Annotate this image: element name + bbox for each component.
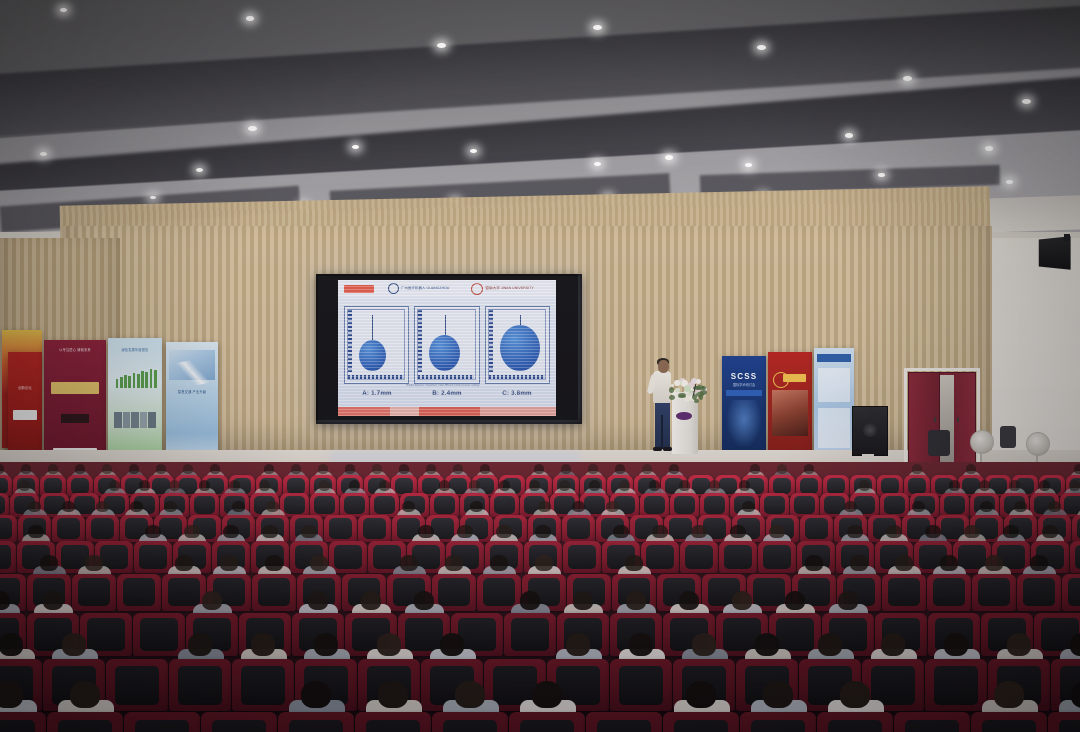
seat-cushion (905, 720, 960, 732)
attendee-head (850, 555, 868, 571)
auditorium-seat[interactable] (358, 515, 391, 543)
auditorium-seat[interactable] (1062, 574, 1080, 611)
seat-cushion (933, 578, 965, 606)
banner-photo-1 (114, 412, 121, 428)
seat-cushion (135, 720, 190, 732)
attendee-head (28, 501, 41, 513)
auditorium-seat[interactable] (700, 493, 729, 517)
auditorium-seat[interactable] (927, 574, 971, 611)
attendee-head (1069, 480, 1080, 491)
seat-cushion (1077, 518, 1080, 539)
attendee-head (679, 480, 691, 491)
attendee-head (912, 464, 922, 473)
banner-bar-7 (141, 371, 144, 388)
attendee-head (377, 633, 402, 656)
auditorium-seat[interactable] (232, 659, 294, 711)
auditorium-seat[interactable] (324, 515, 357, 543)
attendee-head (949, 480, 961, 491)
seat-cushion (168, 578, 200, 606)
attendee-head (1009, 480, 1021, 491)
logo-left: 广州医疗机器人 GUANGZHOU (388, 283, 449, 294)
banner-bar-1 (116, 379, 119, 388)
ceiling-light-8 (845, 133, 853, 138)
attendee-head (859, 480, 871, 491)
seat-cushion (753, 578, 785, 606)
droplet-shape (359, 340, 386, 371)
attendee-head (62, 501, 75, 513)
seat-cushion (674, 720, 729, 732)
attendee-head (573, 591, 594, 610)
attendee-head (418, 525, 433, 539)
attendee-head (652, 525, 667, 539)
panel-axis-vertical (418, 310, 422, 372)
banner-blue-rail[interactable]: 智慧交通 产业升级 (166, 342, 218, 464)
attendee-head (755, 633, 780, 656)
ceiling-light-19 (1006, 180, 1013, 184)
auditorium-seat[interactable] (610, 659, 672, 711)
seat-cushion (91, 518, 115, 539)
seat-cushion (284, 496, 305, 515)
auditorium-seat[interactable] (680, 541, 718, 573)
logo-ring-icon (388, 283, 399, 294)
attendee-head (188, 633, 213, 656)
attendee-head (925, 525, 940, 539)
ceiling-light-6 (1022, 99, 1031, 104)
attendee-head (139, 480, 151, 491)
attendee-head (480, 464, 490, 473)
seat-cushion (0, 496, 5, 515)
seat-cushion (704, 496, 725, 515)
attendee-head (301, 681, 331, 708)
auditorium-seat[interactable] (0, 515, 17, 543)
slide-content: 广州医疗机器人 GUANGZHOU 暨南大学 JINAN UNIVERSITY … (338, 280, 556, 416)
seat-cushion (344, 496, 365, 515)
seat-cushion (908, 478, 927, 494)
seat-cushion (483, 578, 515, 606)
attendee-head (129, 464, 139, 473)
auditorium-seat[interactable] (134, 541, 172, 573)
attendee-head (229, 480, 241, 491)
slide-caption-note: Droplet diameter comparison under differ… (352, 384, 534, 389)
ceiling-light-17 (745, 163, 752, 167)
attendee-head (818, 633, 843, 656)
banner-bar-9 (150, 369, 153, 388)
attendee-head (529, 480, 541, 491)
attendee-head (805, 555, 823, 571)
auditorium-seat[interactable] (509, 712, 585, 732)
diagram-panel-B (414, 306, 479, 384)
seat-cushion (140, 618, 177, 651)
foliage-6 (678, 393, 686, 397)
attendee-head (742, 501, 755, 513)
maroon-dark-block (61, 414, 88, 423)
poster-white-block (13, 410, 38, 420)
attendee-head (679, 591, 700, 610)
auditorium-seat[interactable] (117, 574, 161, 611)
ceiling-light-4 (757, 45, 766, 50)
attendee-head (532, 681, 562, 708)
ceiling-light-3 (593, 25, 602, 30)
footer-seg-2 (390, 407, 418, 416)
auditorium-seat[interactable] (432, 712, 508, 732)
attendee-head (43, 591, 64, 610)
attendee-head (202, 591, 223, 610)
seat-cushion (494, 496, 515, 515)
auditorium-seat[interactable] (663, 712, 739, 732)
audience-area (0, 462, 1080, 732)
speaker-bracket (1064, 234, 1070, 242)
attendee-head (28, 525, 43, 539)
podium-badge (676, 412, 692, 420)
attendee-head (199, 480, 211, 491)
auditorium-seat[interactable] (1072, 515, 1080, 543)
auditorium-seat[interactable] (0, 712, 46, 732)
attendee-head (266, 501, 279, 513)
attendee-head (314, 633, 339, 656)
ceiling-light-16 (594, 162, 601, 166)
seat-cushion (1068, 578, 1080, 606)
ceiling-light-14 (352, 145, 359, 149)
panel-label-C: C: 3.8mm (482, 390, 552, 397)
presenter-head (658, 360, 669, 373)
attendee-head (944, 633, 969, 656)
auditorium-seat[interactable] (760, 493, 789, 517)
seat-cushion (724, 545, 751, 569)
banner-photo-2 (123, 412, 130, 428)
auditorium-seat[interactable] (925, 659, 987, 711)
seat-cushion (619, 666, 664, 705)
attendee-head (559, 480, 571, 491)
attendee-head (469, 480, 481, 491)
auditorium-seat[interactable] (133, 613, 185, 656)
auditorium-seat[interactable] (47, 712, 123, 732)
diagram-panel-A (344, 306, 409, 384)
auditorium-seat[interactable] (670, 493, 699, 517)
attendee-head (1030, 555, 1048, 571)
auditorium-seat[interactable] (340, 493, 369, 517)
attendee-head (399, 464, 409, 473)
fan-head-icon (970, 430, 994, 454)
attendee-head (210, 464, 220, 473)
attendee-head (379, 480, 391, 491)
attendee-head (785, 591, 806, 610)
auditorium-seat[interactable] (563, 541, 601, 573)
seat-cushion (934, 666, 979, 705)
attendee-head (318, 464, 328, 473)
attendee-head (265, 555, 283, 571)
auditorium-seat[interactable] (201, 712, 277, 732)
auditorium-seat[interactable] (719, 541, 757, 573)
auditorium-seat[interactable] (504, 613, 556, 656)
attendee-head (1048, 501, 1061, 513)
seat-cushion (827, 478, 846, 494)
auditorium-seat[interactable] (252, 574, 296, 611)
attendee-head (308, 591, 329, 610)
seat-cushion (87, 618, 124, 651)
seat-cushion (763, 545, 790, 569)
auditorium-seat[interactable] (1017, 574, 1061, 611)
attendee-head (490, 555, 508, 571)
attendee-head (642, 464, 652, 473)
seat-cushion (982, 720, 1037, 732)
fan-head-icon-2 (1026, 432, 1050, 456)
seat-cushion (0, 545, 11, 569)
seat-cushion (241, 666, 286, 705)
lightblue-block-2 (818, 408, 850, 448)
attendee-head (145, 525, 160, 539)
attendee-head (414, 591, 435, 610)
auditorium-seat[interactable] (882, 574, 926, 611)
attendee-head (844, 501, 857, 513)
attendee-head (985, 555, 1003, 571)
auditorium-seat[interactable] (1048, 712, 1080, 732)
auditorium-seat[interactable] (586, 712, 662, 732)
seat-cushion (123, 578, 155, 606)
auditorium-seat[interactable] (86, 515, 119, 543)
auditorium-seat[interactable] (894, 712, 970, 732)
auditorium-seat[interactable] (800, 515, 833, 543)
door-handle-right[interactable] (957, 417, 959, 422)
seat-cushion (958, 545, 985, 569)
attendee-head (262, 525, 277, 539)
attendee-head (291, 464, 301, 473)
auditorium-seat[interactable] (940, 493, 969, 517)
seat-cushion (881, 478, 900, 494)
attendee-head (223, 525, 238, 539)
slide-accent-block (344, 285, 374, 293)
attendee-head (709, 480, 721, 491)
attendee-head (1039, 480, 1051, 491)
auditorium-seat[interactable] (430, 493, 459, 517)
logo-right-text: 暨南大学 JINAN UNIVERSITY (485, 286, 533, 290)
seat-cushion (115, 666, 160, 705)
attendee-head (940, 555, 958, 571)
floor-speaker (852, 406, 888, 456)
attendee-head (1007, 633, 1032, 656)
attendee-head (615, 464, 625, 473)
attendee-head (445, 555, 463, 571)
attendee-head (310, 555, 328, 571)
attendee-head (0, 681, 23, 708)
ceiling-light-7 (665, 155, 673, 160)
footer-seg-4 (480, 407, 556, 416)
seat-cushion (1023, 578, 1055, 606)
auditorium-seat[interactable] (1070, 541, 1080, 573)
chair-in-doorway (928, 430, 950, 456)
seat-cushion (329, 518, 353, 539)
seat-cushion (405, 618, 442, 651)
seat-cushion (1059, 720, 1080, 732)
auditorium-seat[interactable] (124, 712, 200, 732)
auditorium-seat[interactable] (106, 659, 168, 711)
rail-swoosh (163, 355, 222, 392)
attendee-head (750, 464, 760, 473)
auditorium-photo: 广州医疗机器人 GUANGZHOU 暨南大学 JINAN UNIVERSITY … (0, 0, 1080, 732)
ceiling-light-2 (437, 43, 446, 48)
attendee-head (964, 525, 979, 539)
maroon-gold-block (51, 382, 98, 394)
banner-bar-10 (154, 370, 157, 388)
seat-cushion (520, 720, 575, 732)
auditorium-seat[interactable] (310, 493, 339, 517)
attendee-head (535, 555, 553, 571)
attendee-head (739, 480, 751, 491)
attendee-head (535, 525, 550, 539)
seat-cushion (944, 496, 965, 515)
attendee-head (470, 501, 483, 513)
auditorium-seat[interactable] (329, 541, 367, 573)
seat-cushion (751, 720, 806, 732)
auditorium-seat[interactable] (355, 712, 431, 732)
auditorium-seat[interactable] (72, 574, 116, 611)
slide-header: 广州医疗机器人 GUANGZHOU 暨南大学 JINAN UNIVERSITY (338, 280, 556, 297)
auditorium-seat[interactable] (190, 493, 219, 517)
auditorium-seat[interactable] (562, 515, 595, 543)
attendee-head (21, 464, 31, 473)
seat-cushion (888, 578, 920, 606)
scss-glow (726, 400, 763, 448)
scss-title: SCSS (722, 372, 766, 381)
banner-bar-3 (124, 375, 127, 388)
auditorium-seat[interactable] (817, 712, 893, 732)
attendee-head (881, 633, 906, 656)
attendee-head (895, 555, 913, 571)
auditorium-seat[interactable] (0, 493, 9, 517)
attendee-head (426, 464, 436, 473)
auditorium-seat[interactable] (278, 712, 354, 732)
door-leaf-right[interactable] (954, 373, 975, 469)
banner-photo-3 (131, 412, 138, 428)
fan-dark-body (1000, 426, 1016, 448)
banner-bar-6 (137, 374, 140, 388)
attendee-head (980, 501, 993, 513)
lightblue-block-1 (818, 368, 850, 402)
seat-cushion (794, 496, 815, 515)
footer-seg-1 (338, 407, 390, 416)
seat-cushion (374, 496, 395, 515)
auditorium-seat[interactable] (640, 493, 669, 517)
presenter-leg-gap (661, 415, 663, 449)
attendee-head (838, 591, 859, 610)
attendee-head (649, 480, 661, 491)
attendee-head (349, 480, 361, 491)
seat-cushion (674, 496, 695, 515)
attendee-head (220, 555, 238, 571)
speaker-cone-icon (863, 423, 877, 437)
seat-cushion (567, 518, 591, 539)
attendee-head (730, 525, 745, 539)
attendee-head (561, 464, 571, 473)
auditorium-seat[interactable] (790, 493, 819, 517)
auditorium-seat[interactable] (971, 712, 1047, 732)
attendee-head (606, 501, 619, 513)
attendee-head (319, 480, 331, 491)
seat-cushion (685, 545, 712, 569)
attendee-head (534, 464, 544, 473)
seat-cushion (57, 518, 81, 539)
seat-cushion (139, 545, 166, 569)
panel-label-B: B: 2.4mm (412, 390, 482, 397)
banner-green-chart[interactable]: 绿色发展年度报告 (108, 338, 162, 464)
ceiling-light-11 (60, 8, 67, 12)
projection-screen[interactable]: 广州医疗机器人 GUANGZHOU 暨南大学 JINAN UNIVERSITY … (316, 274, 582, 424)
auditorium-seat[interactable] (972, 574, 1016, 611)
attendee-head (96, 501, 109, 513)
attendee-head (763, 681, 793, 708)
ceiling-light-9 (985, 146, 993, 151)
attendee-head (455, 681, 485, 708)
seat-cushion (194, 496, 215, 515)
seat-cushion (646, 545, 673, 569)
banner-photo-strip (114, 412, 155, 428)
attendee-head (169, 480, 181, 491)
door-handle-left[interactable] (934, 417, 936, 422)
logo-ring2-icon (471, 283, 483, 295)
seat-cushion (0, 478, 8, 494)
seat-cushion (395, 478, 414, 494)
foliage-9 (699, 395, 703, 400)
seat-cushion (773, 478, 792, 494)
attendee-head (85, 555, 103, 571)
foliage-10 (700, 390, 707, 395)
slide-footer-band (338, 407, 556, 416)
attendee-head (400, 555, 418, 571)
attendee-head (0, 633, 23, 656)
auditorium-seat[interactable] (740, 712, 816, 732)
seat-cushion (438, 578, 470, 606)
attendee-head (669, 464, 679, 473)
auditorium-seat[interactable] (758, 541, 796, 573)
attendee-head (538, 501, 551, 513)
seat-cushion (58, 720, 113, 732)
auditorium-seat[interactable] (490, 493, 519, 517)
panel-axis-vertical (348, 310, 352, 372)
attendee-head (496, 525, 511, 539)
attendee-head (40, 555, 58, 571)
banner-maroon[interactable]: 以专注匠心 铸就未来 (44, 340, 106, 466)
attendee-head (48, 464, 58, 473)
ceiling-light-13 (196, 168, 203, 172)
attendee-head (175, 555, 193, 571)
panel-axis-horizontal (348, 375, 404, 379)
auditorium-seat[interactable] (880, 493, 909, 517)
auditorium-seat[interactable] (0, 541, 16, 573)
seat-cushion (314, 496, 335, 515)
banner-photo-5 (148, 412, 155, 428)
attendee-head (966, 464, 976, 473)
attendee-head (588, 464, 598, 473)
attendee-head (613, 525, 628, 539)
flower-arrangement (666, 376, 706, 400)
attendee-head (232, 501, 245, 513)
banner-bar-2 (120, 377, 123, 388)
auditorium-seat[interactable] (370, 493, 399, 517)
attendee-head (619, 480, 631, 491)
banner-photo-4 (140, 412, 147, 428)
attendee-head (457, 525, 472, 539)
presenter-shoe-right (663, 447, 672, 451)
seat-cushion (334, 545, 361, 569)
diagram-panel-C (485, 306, 550, 384)
ceiling-light-18 (878, 173, 885, 177)
seat-cushion (443, 720, 498, 732)
slide-panel-labels: A: 1.7mmB: 2.4mmC: 3.8mm (342, 390, 552, 397)
attendee-head (566, 633, 591, 656)
attendee-head (520, 591, 541, 610)
seat-cushion (800, 478, 819, 494)
auditorium-seat[interactable] (169, 659, 231, 711)
auditorium-seat[interactable] (52, 515, 85, 543)
